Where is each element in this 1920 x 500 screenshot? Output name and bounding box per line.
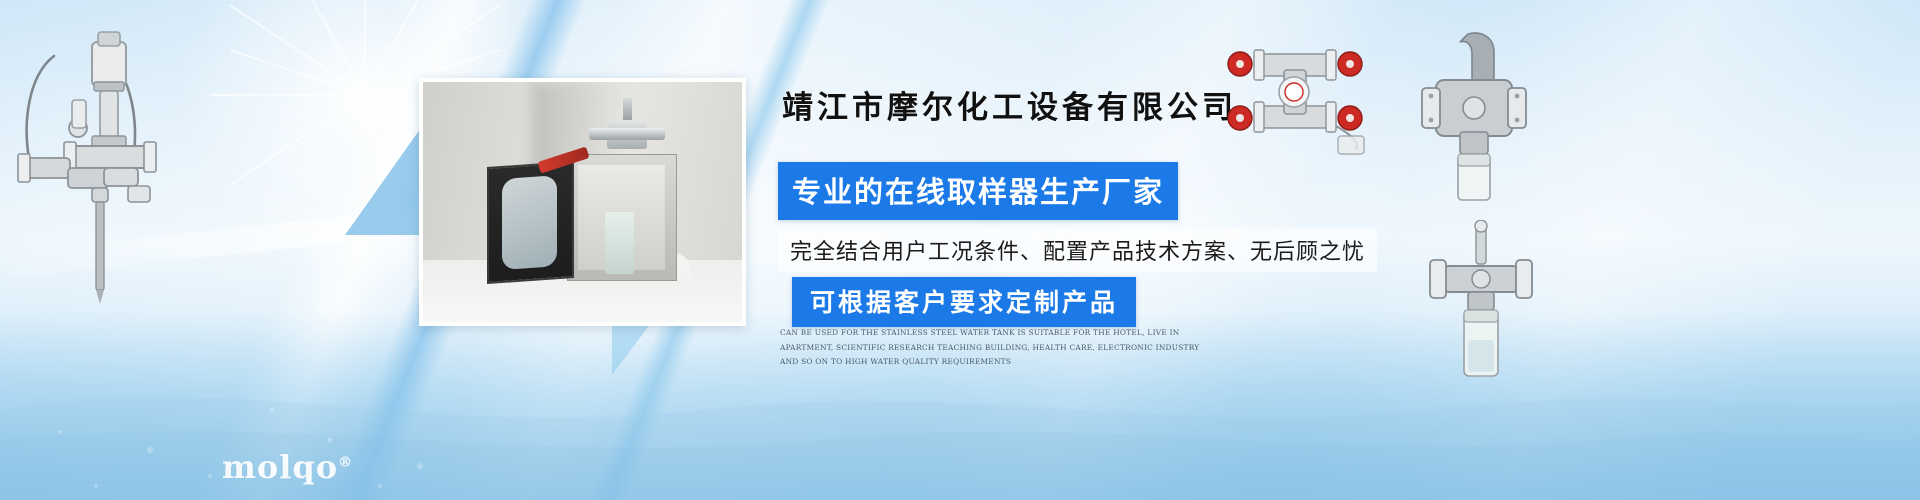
slogan-secondary: 完全结合用户工况条件、配置产品技术方案、无后顾之忧 xyxy=(778,228,1377,272)
photo-sample-bottle xyxy=(605,212,634,274)
english-description: CAN BE USED FOR THE STAINLESS STEEL WATE… xyxy=(780,326,1210,370)
triangle-decoration-1 xyxy=(345,125,423,235)
equipment-inline-sampler-bottle xyxy=(1418,220,1548,410)
slogan-tertiary: 可根据客户要求定制产品 xyxy=(792,277,1136,327)
photo-cabinet-door xyxy=(487,161,574,284)
equipment-flanged-sampler-lever xyxy=(1408,24,1538,224)
photo-valve-flange xyxy=(589,128,666,140)
text-block: 靖江市摩尔化工设备有限公司 专业的在线取样器生产厂家 完全结合用户工况条件、配置… xyxy=(778,0,1418,500)
product-photo xyxy=(419,78,746,326)
watermark-text: molqo xyxy=(222,448,338,486)
company-name: 靖江市摩尔化工设备有限公司 xyxy=(782,82,1237,127)
photo-valve-stem xyxy=(623,98,632,120)
photo-door-window xyxy=(502,175,557,269)
photo-top-valve xyxy=(589,106,666,159)
promo-banner: 靖江市摩尔化工设备有限公司 专业的在线取样器生产厂家 完全结合用户工况条件、配置… xyxy=(0,0,1920,500)
equipment-left-sampling-valve-assembly xyxy=(8,18,168,308)
watermark-logo: molqo® xyxy=(222,448,353,486)
watermark-registered-mark: ® xyxy=(338,454,353,470)
slogan-primary: 专业的在线取样器生产厂家 xyxy=(778,162,1178,220)
